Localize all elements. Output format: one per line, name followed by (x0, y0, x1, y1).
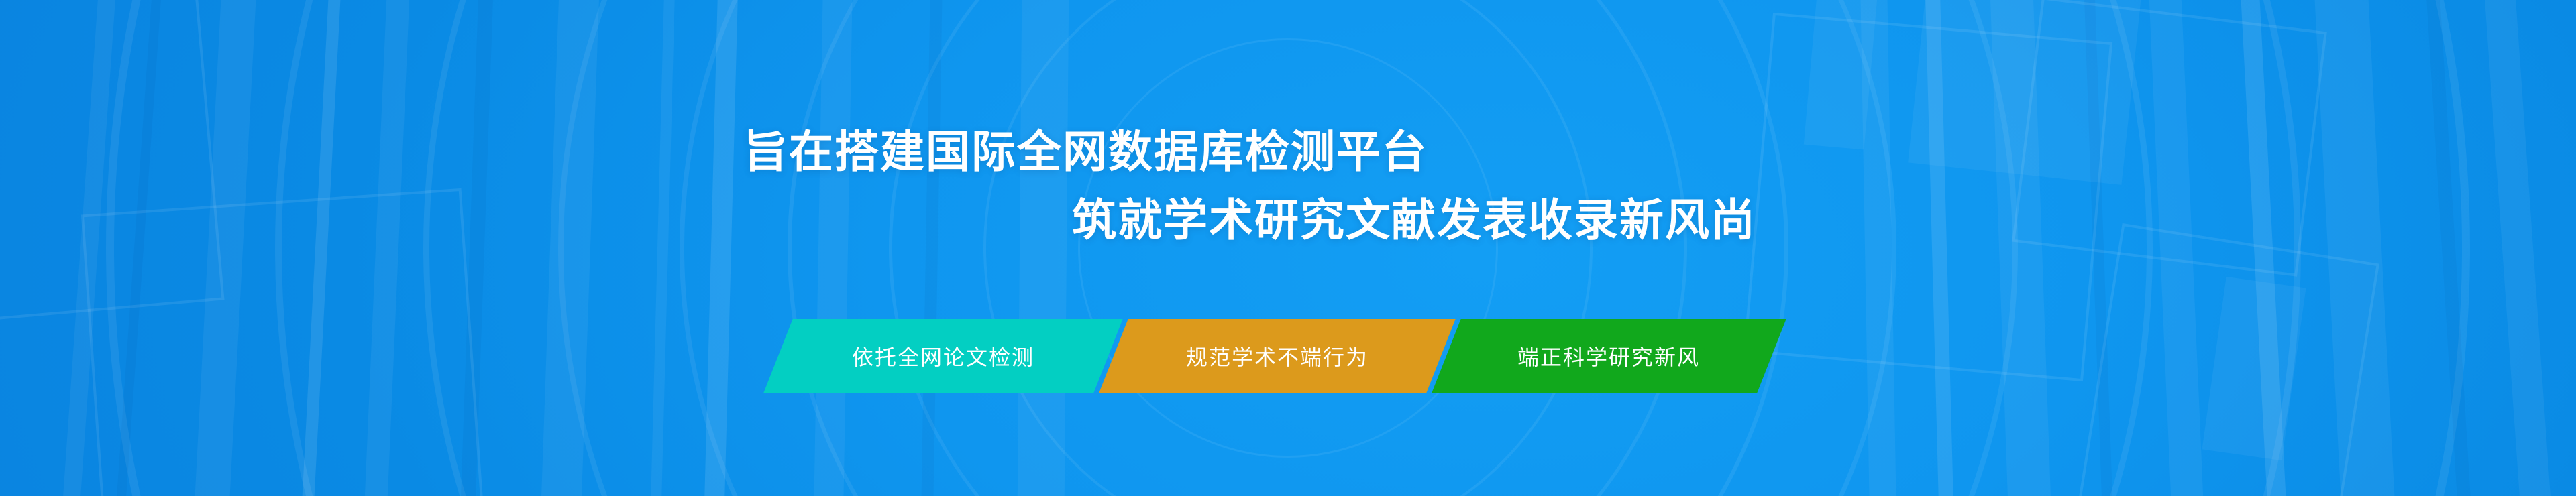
feature-tag-0[interactable]: 依托全网论文检测 (763, 319, 1122, 393)
feature-tag-0-label: 依托全网论文检测 (852, 340, 1034, 371)
feature-tag-1[interactable]: 规范学术不端行为 (1099, 319, 1455, 393)
feature-tag-1-label: 规范学术不端行为 (1186, 340, 1368, 371)
headline-block: 旨在搭建国际全网数据库检测平台 筑就学术研究文献发表收录新风尚 (0, 0, 2576, 496)
title-line-2: 筑就学术研究文献发表收录新风尚 (1072, 193, 1756, 247)
feature-tag-2-label: 端正科学研究新风 (1517, 340, 1700, 371)
title-line-1: 旨在搭建国际全网数据库检测平台 (743, 125, 1428, 178)
promo-banner: 旨在搭建国际全网数据库检测平台 筑就学术研究文献发表收录新风尚 依托全网论文检测… (0, 0, 2576, 496)
feature-tag-strip: 依托全网论文检测 规范学术不端行为 端正科学研究新风 (778, 319, 1772, 393)
feature-tag-2[interactable]: 端正科学研究新风 (1432, 319, 1786, 393)
